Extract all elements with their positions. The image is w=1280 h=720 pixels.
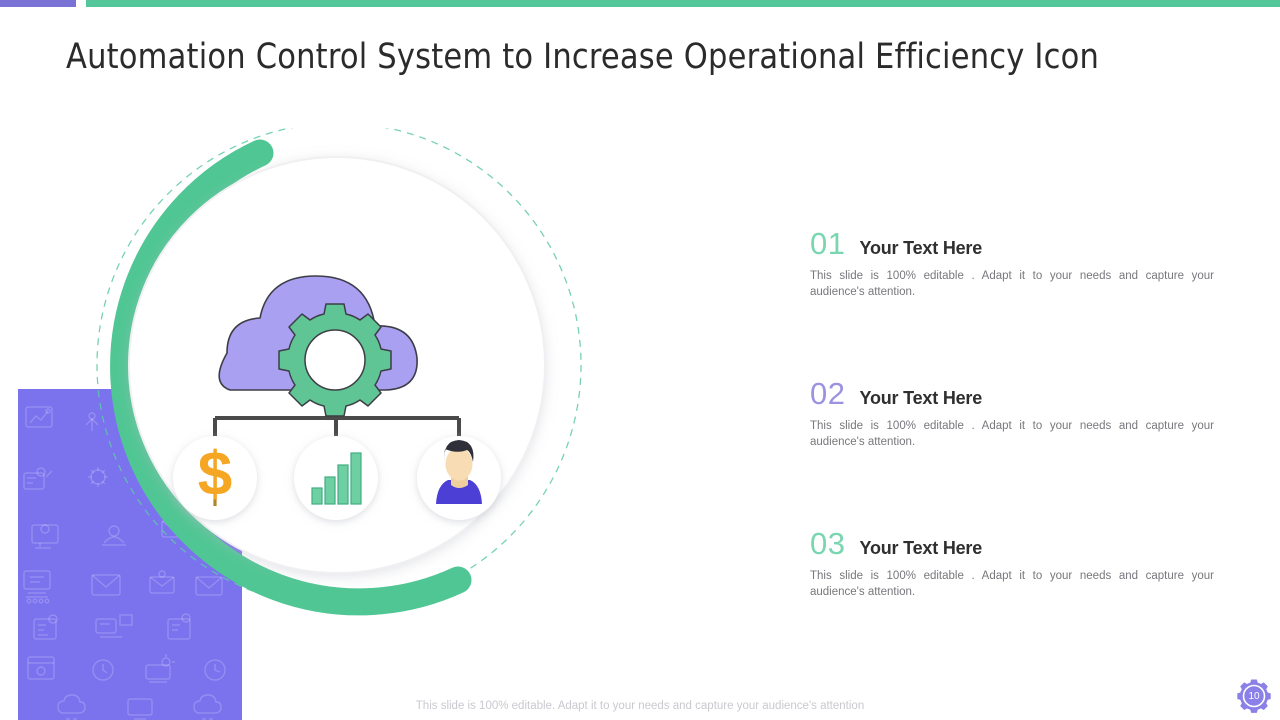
central-illustration: $ — [80, 128, 600, 618]
content-block-01-header: 01 Your Text Here — [810, 228, 1230, 259]
gear-shape — [279, 304, 391, 416]
node-person — [417, 436, 501, 520]
topbar-green-segment — [86, 0, 1280, 7]
content-block-02-title: Your Text Here — [859, 389, 982, 407]
content-block-03-header: 03 Your Text Here — [810, 528, 1230, 559]
slide-number-badge: 10 — [1236, 678, 1272, 714]
content-block-02: 02 Your Text Here This slide is 100% edi… — [810, 378, 1230, 450]
person-face — [446, 448, 473, 481]
content-block-01-number: 01 — [810, 228, 845, 259]
content-block-03-title: Your Text Here — [859, 539, 982, 557]
content-block-03-body: This slide is 100% editable . Adapt it t… — [810, 568, 1214, 600]
slide-number-text: 10 — [1236, 678, 1272, 714]
content-block-02-body: This slide is 100% editable . Adapt it t… — [810, 418, 1214, 450]
node-dollar: $ — [173, 436, 257, 520]
illustration-svg: $ — [80, 128, 600, 618]
node-barchart — [294, 436, 378, 520]
svg-text:$: $ — [198, 440, 232, 509]
content-block-01-body: This slide is 100% editable . Adapt it t… — [810, 268, 1214, 300]
topbar-purple-segment — [0, 0, 76, 7]
content-block-01-title: Your Text Here — [859, 239, 982, 257]
content-block-03-number: 03 — [810, 528, 845, 559]
slide-canvas: Automation Control System to Increase Op… — [0, 0, 1280, 720]
footer-note: This slide is 100% editable. Adapt it to… — [0, 700, 1280, 712]
content-block-02-header: 02 Your Text Here — [810, 378, 1230, 409]
page-title: Automation Control System to Increase Op… — [66, 37, 1191, 77]
dollar-sign-icon: $ — [198, 440, 232, 509]
content-block-01: 01 Your Text Here This slide is 100% edi… — [810, 228, 1230, 300]
content-block-03: 03 Your Text Here This slide is 100% edi… — [810, 528, 1230, 600]
content-block-02-number: 02 — [810, 378, 845, 409]
node-chip-2 — [294, 436, 378, 520]
